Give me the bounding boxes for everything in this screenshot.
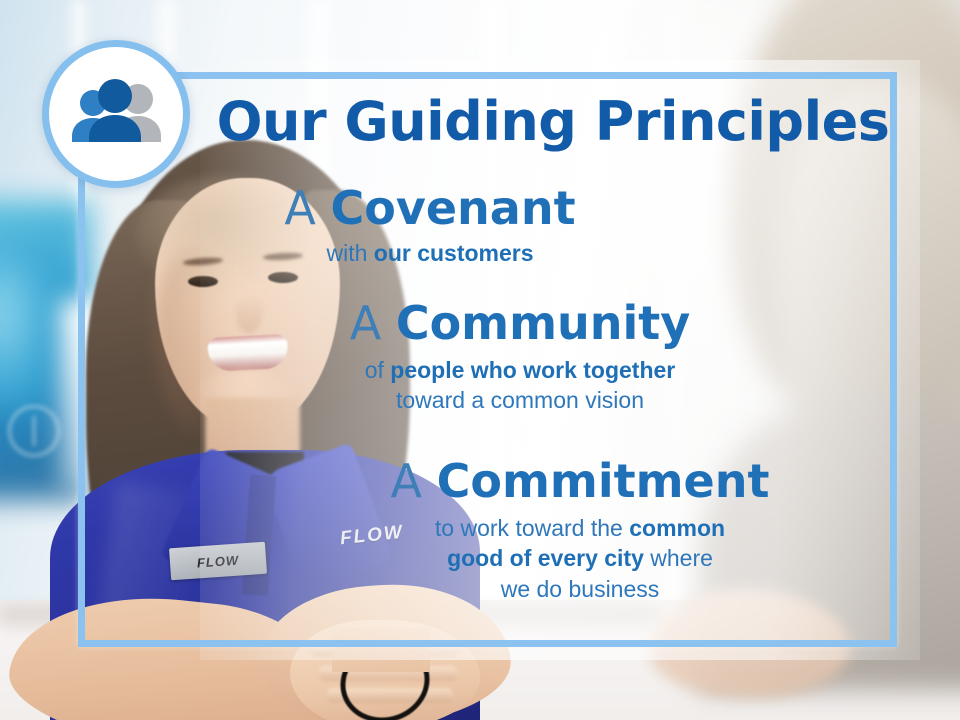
principle-community-lead: A	[350, 296, 396, 350]
principle-commitment: A Commitment to work toward the common g…	[270, 458, 890, 605]
principle-community-heading: A Community	[210, 300, 830, 347]
sub-line: good of every city where	[270, 543, 890, 574]
group-people-icon	[42, 40, 190, 188]
sub-line: to work toward the common	[270, 513, 890, 544]
principle-community-keyword: Community	[396, 296, 690, 350]
principle-covenant-keyword: Covenant	[331, 181, 576, 235]
principle-covenant-sub: with our customers	[160, 238, 700, 269]
principle-covenant: A Covenant with our customers	[160, 185, 700, 268]
sub-line: with our customers	[326, 240, 533, 266]
principle-community-sub: of people who work together toward a com…	[210, 355, 830, 416]
guiding-principles-banner: FLOW FLOW Our Guidi	[0, 0, 960, 720]
page-title: Our Guiding Principles	[213, 95, 893, 149]
principle-commitment-heading: A Commitment	[270, 458, 890, 505]
principle-commitment-lead: A	[391, 454, 437, 508]
sub-line: we do business	[270, 574, 890, 605]
principle-covenant-lead: A	[284, 181, 330, 235]
sub-line: toward a common vision	[210, 385, 830, 416]
principle-commitment-keyword: Commitment	[437, 454, 770, 508]
principle-commitment-sub: to work toward the common good of every …	[270, 513, 890, 605]
principle-covenant-heading: A Covenant	[160, 185, 700, 232]
principle-community: A Community of people who work together …	[210, 300, 830, 416]
sub-line: of people who work together	[210, 355, 830, 386]
